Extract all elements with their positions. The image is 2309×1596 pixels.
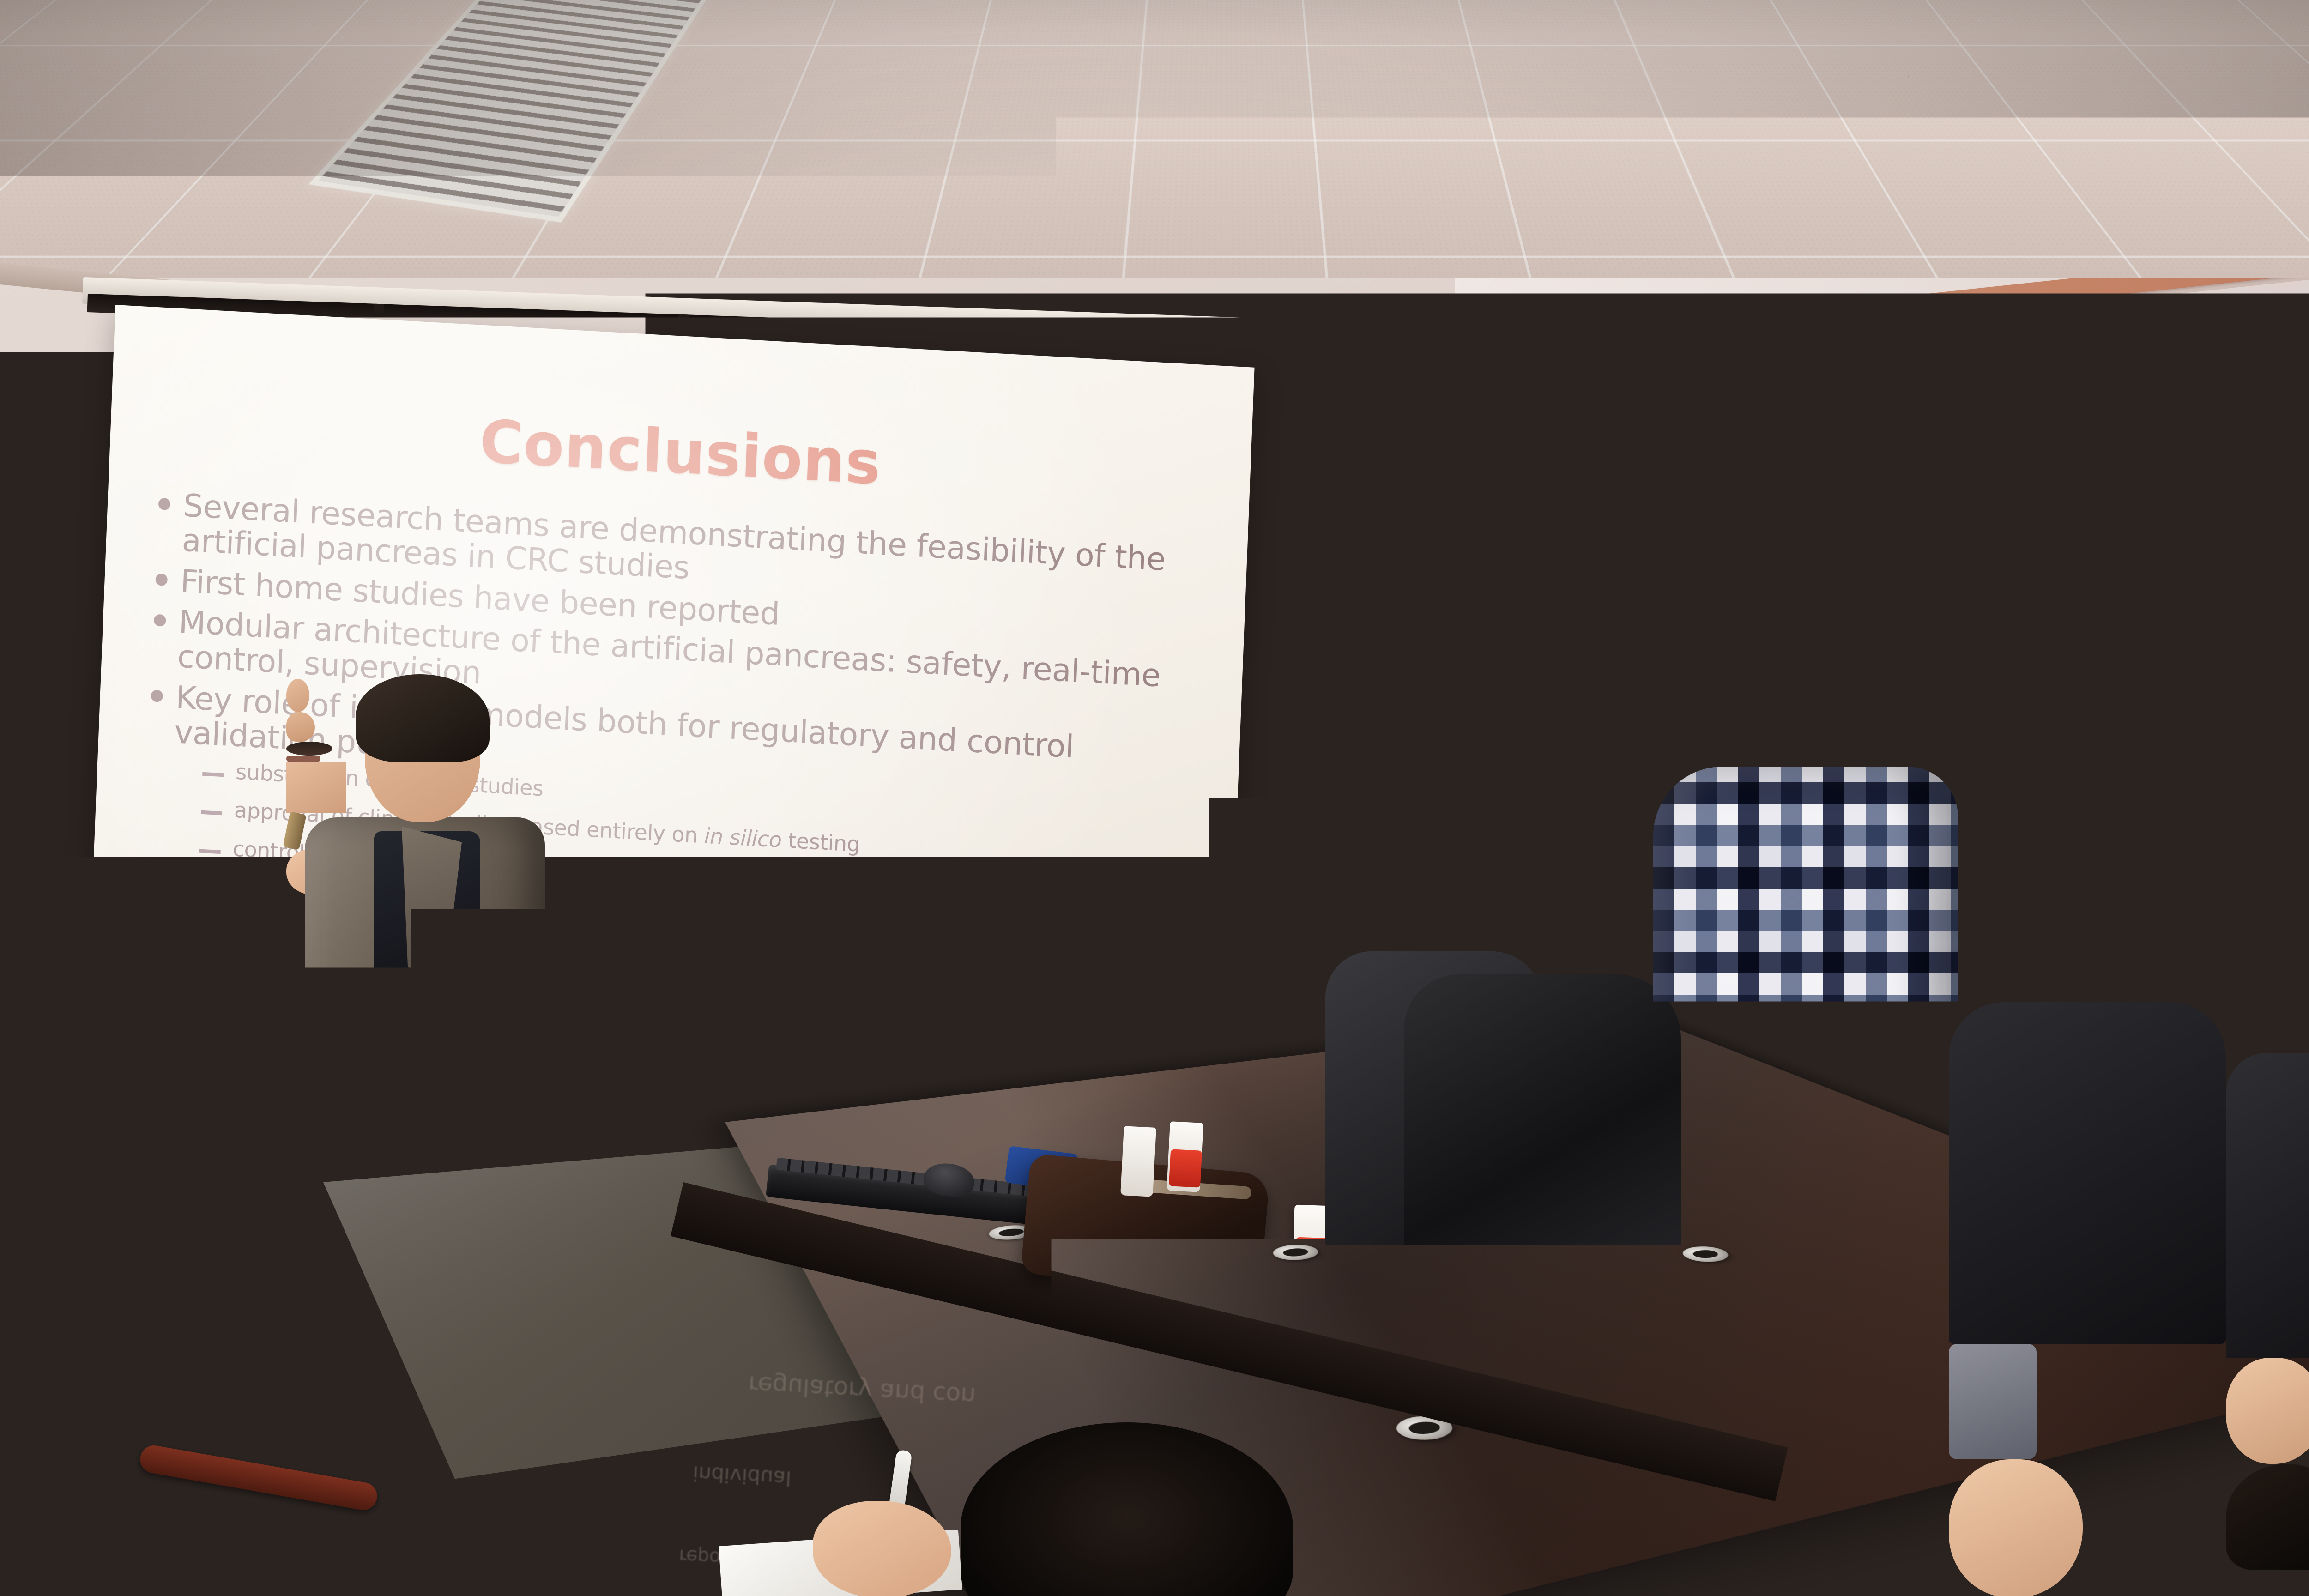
- plaid-hoodie: [1653, 767, 1958, 1228]
- presenter-nose: [286, 712, 315, 742]
- bullet-dash-icon: [202, 772, 224, 777]
- bullet-dot-icon: [154, 614, 166, 627]
- woman-head: [1404, 1409, 1529, 1547]
- far-right-person: [2226, 1053, 2309, 1469]
- lecture-room-photo: Conclusions Several research teams are d…: [0, 0, 2309, 1596]
- bullet-dot-icon: [155, 573, 168, 586]
- table-reflection-text: individual: [692, 1461, 792, 1490]
- rail-clip: [678, 314, 689, 333]
- reader-shirt: [1949, 1344, 2037, 1459]
- standing-student: [1653, 767, 1940, 1552]
- bullet-dot-icon: [158, 498, 171, 510]
- far-person-body: [2226, 1053, 2309, 1358]
- ceiling-shading: [0, 0, 2309, 278]
- seated-woman: [1404, 974, 1662, 1390]
- bullet-dot-icon: [151, 689, 163, 702]
- writing-hand: [813, 1501, 951, 1596]
- sub-bullet-text-italic: in silico: [704, 823, 782, 852]
- seated-reader: [1949, 1002, 2235, 1464]
- presenter-hair: [356, 674, 490, 762]
- reader-coat: [1949, 1002, 2226, 1344]
- presenter-watch: [283, 811, 306, 850]
- presenter-mouth: [286, 756, 320, 762]
- woman-scarf: [1404, 1298, 1524, 1409]
- watermark: 北京化工大学新闻网: [1736, 1496, 2268, 1575]
- suspended-ceiling: [0, 0, 2309, 278]
- plaid-sleeve: [1653, 1228, 1769, 1515]
- paper-cup[interactable]: [1120, 1126, 1156, 1197]
- rail-clip: [1250, 334, 1261, 353]
- bullet-dot-icon: [143, 881, 156, 893]
- presenter-ear: [286, 679, 309, 712]
- presenter-neck: [286, 762, 346, 813]
- presenter-mustache: [286, 742, 332, 756]
- cup-holder: [1169, 1149, 1202, 1187]
- bullet-dash-icon: [201, 810, 222, 816]
- far-person-head: [2226, 1358, 2309, 1464]
- woman-coat: [1404, 974, 1681, 1298]
- rail-clip: [968, 325, 979, 344]
- sub-bullet-text-post: testing: [781, 828, 860, 857]
- bullet-dash-icon: [199, 849, 221, 854]
